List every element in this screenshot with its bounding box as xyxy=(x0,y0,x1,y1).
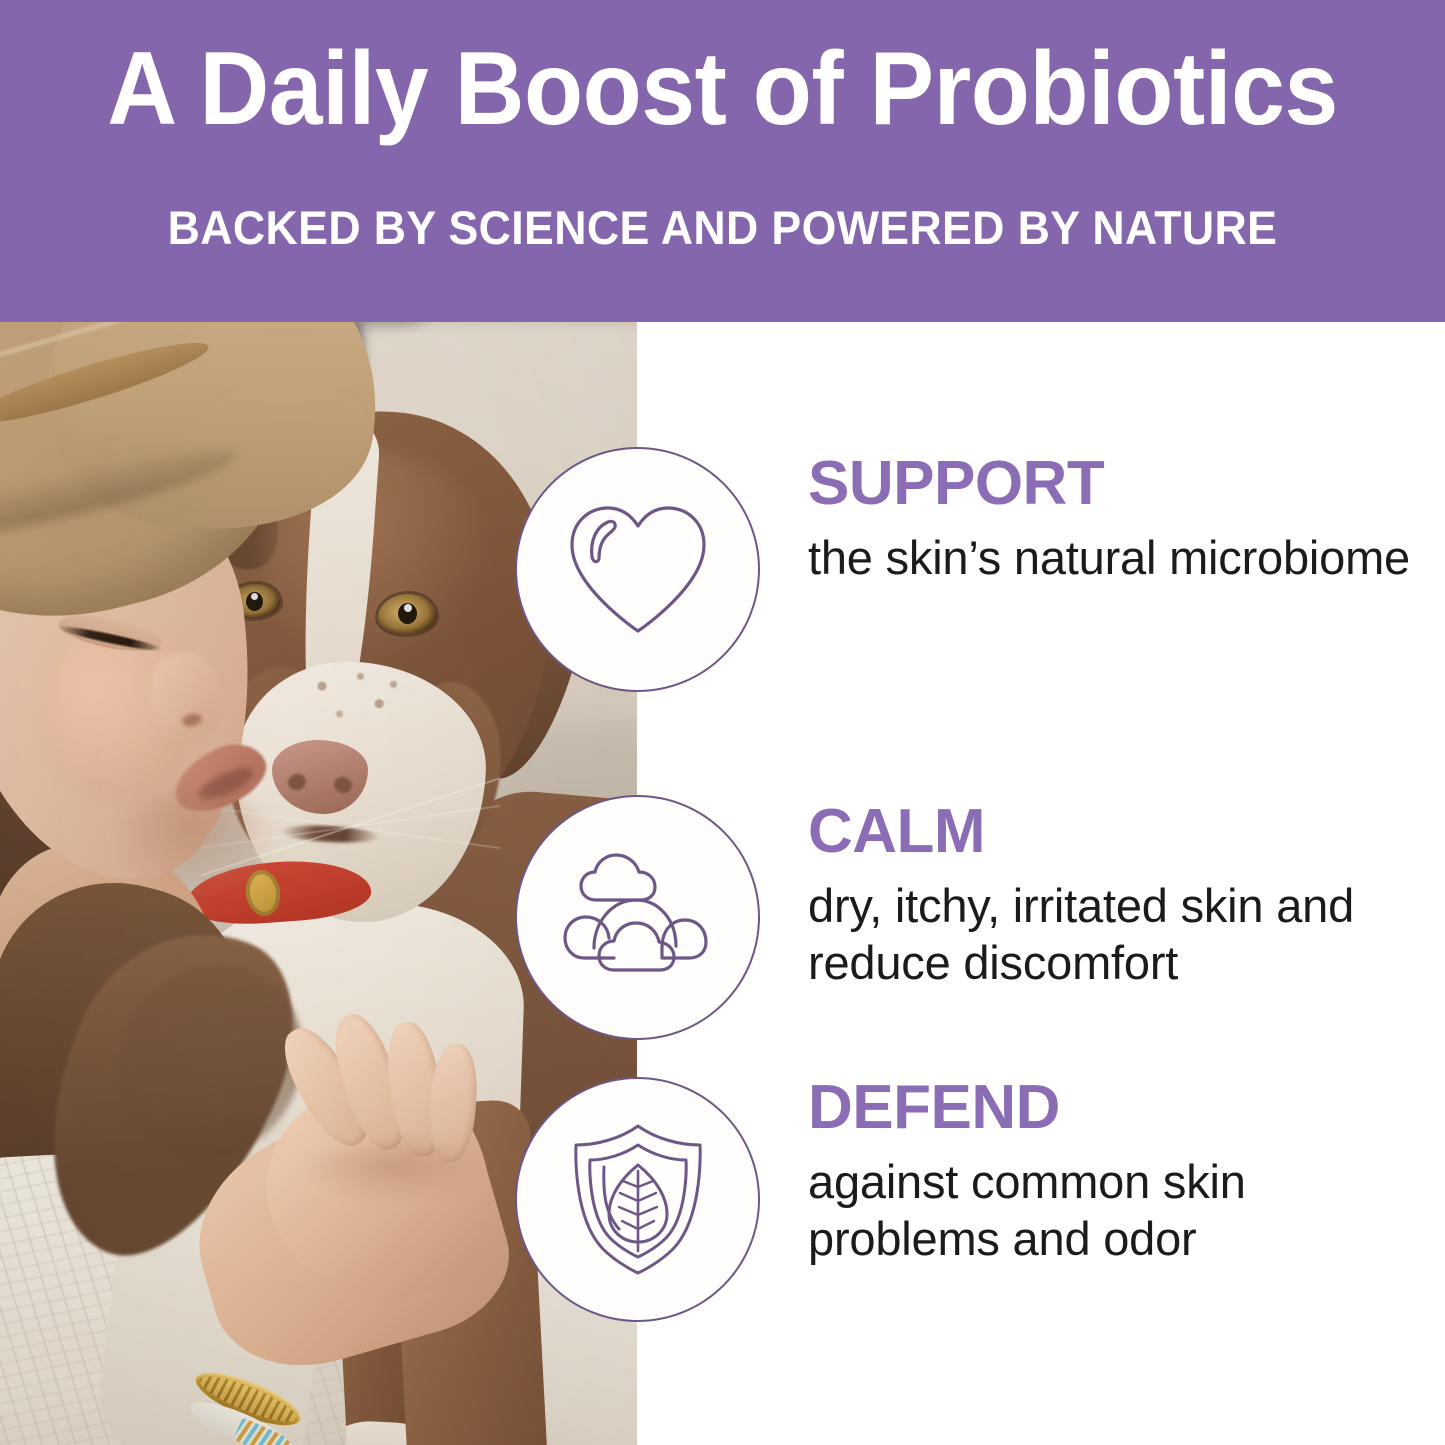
benefit-text-defend: DEFEND against common skin problems and … xyxy=(808,1077,1428,1268)
shield-leaf-icon-badge xyxy=(515,1077,760,1322)
benefit-body: the skin’s natural microbiome xyxy=(808,529,1418,586)
benefit-title: SUPPORT xyxy=(808,453,1428,515)
benefit-text-calm: CALM dry, itchy, irritated skin and redu… xyxy=(808,801,1428,992)
clouds-icon xyxy=(558,848,718,988)
benefit-text-support: SUPPORT the skin’s natural microbiome xyxy=(808,453,1428,586)
benefit-row-defend: DEFEND against common skin problems and … xyxy=(0,1077,1445,1322)
header-band: A Daily Boost of Probiotics BACKED BY SC… xyxy=(0,0,1445,322)
benefit-row-calm: CALM dry, itchy, irritated skin and redu… xyxy=(0,795,1445,1040)
probiotics-infographic: A Daily Boost of Probiotics BACKED BY SC… xyxy=(0,0,1445,1445)
heart-icon xyxy=(558,495,718,645)
heart-icon-badge xyxy=(515,447,760,692)
page-subtitle: BACKED BY SCIENCE AND POWERED BY NATURE xyxy=(36,202,1409,254)
shield-leaf-icon xyxy=(563,1121,713,1279)
page-title: A Daily Boost of Probiotics xyxy=(51,36,1395,142)
clouds-icon-badge xyxy=(515,795,760,1040)
benefit-body: dry, itchy, irritated skin and reduce di… xyxy=(808,877,1418,992)
benefit-title: CALM xyxy=(808,801,1428,863)
benefit-row-support: SUPPORT the skin’s natural microbiome xyxy=(0,447,1445,692)
benefit-title: DEFEND xyxy=(808,1077,1428,1139)
benefit-body: against common skin problems and odor xyxy=(808,1153,1418,1268)
